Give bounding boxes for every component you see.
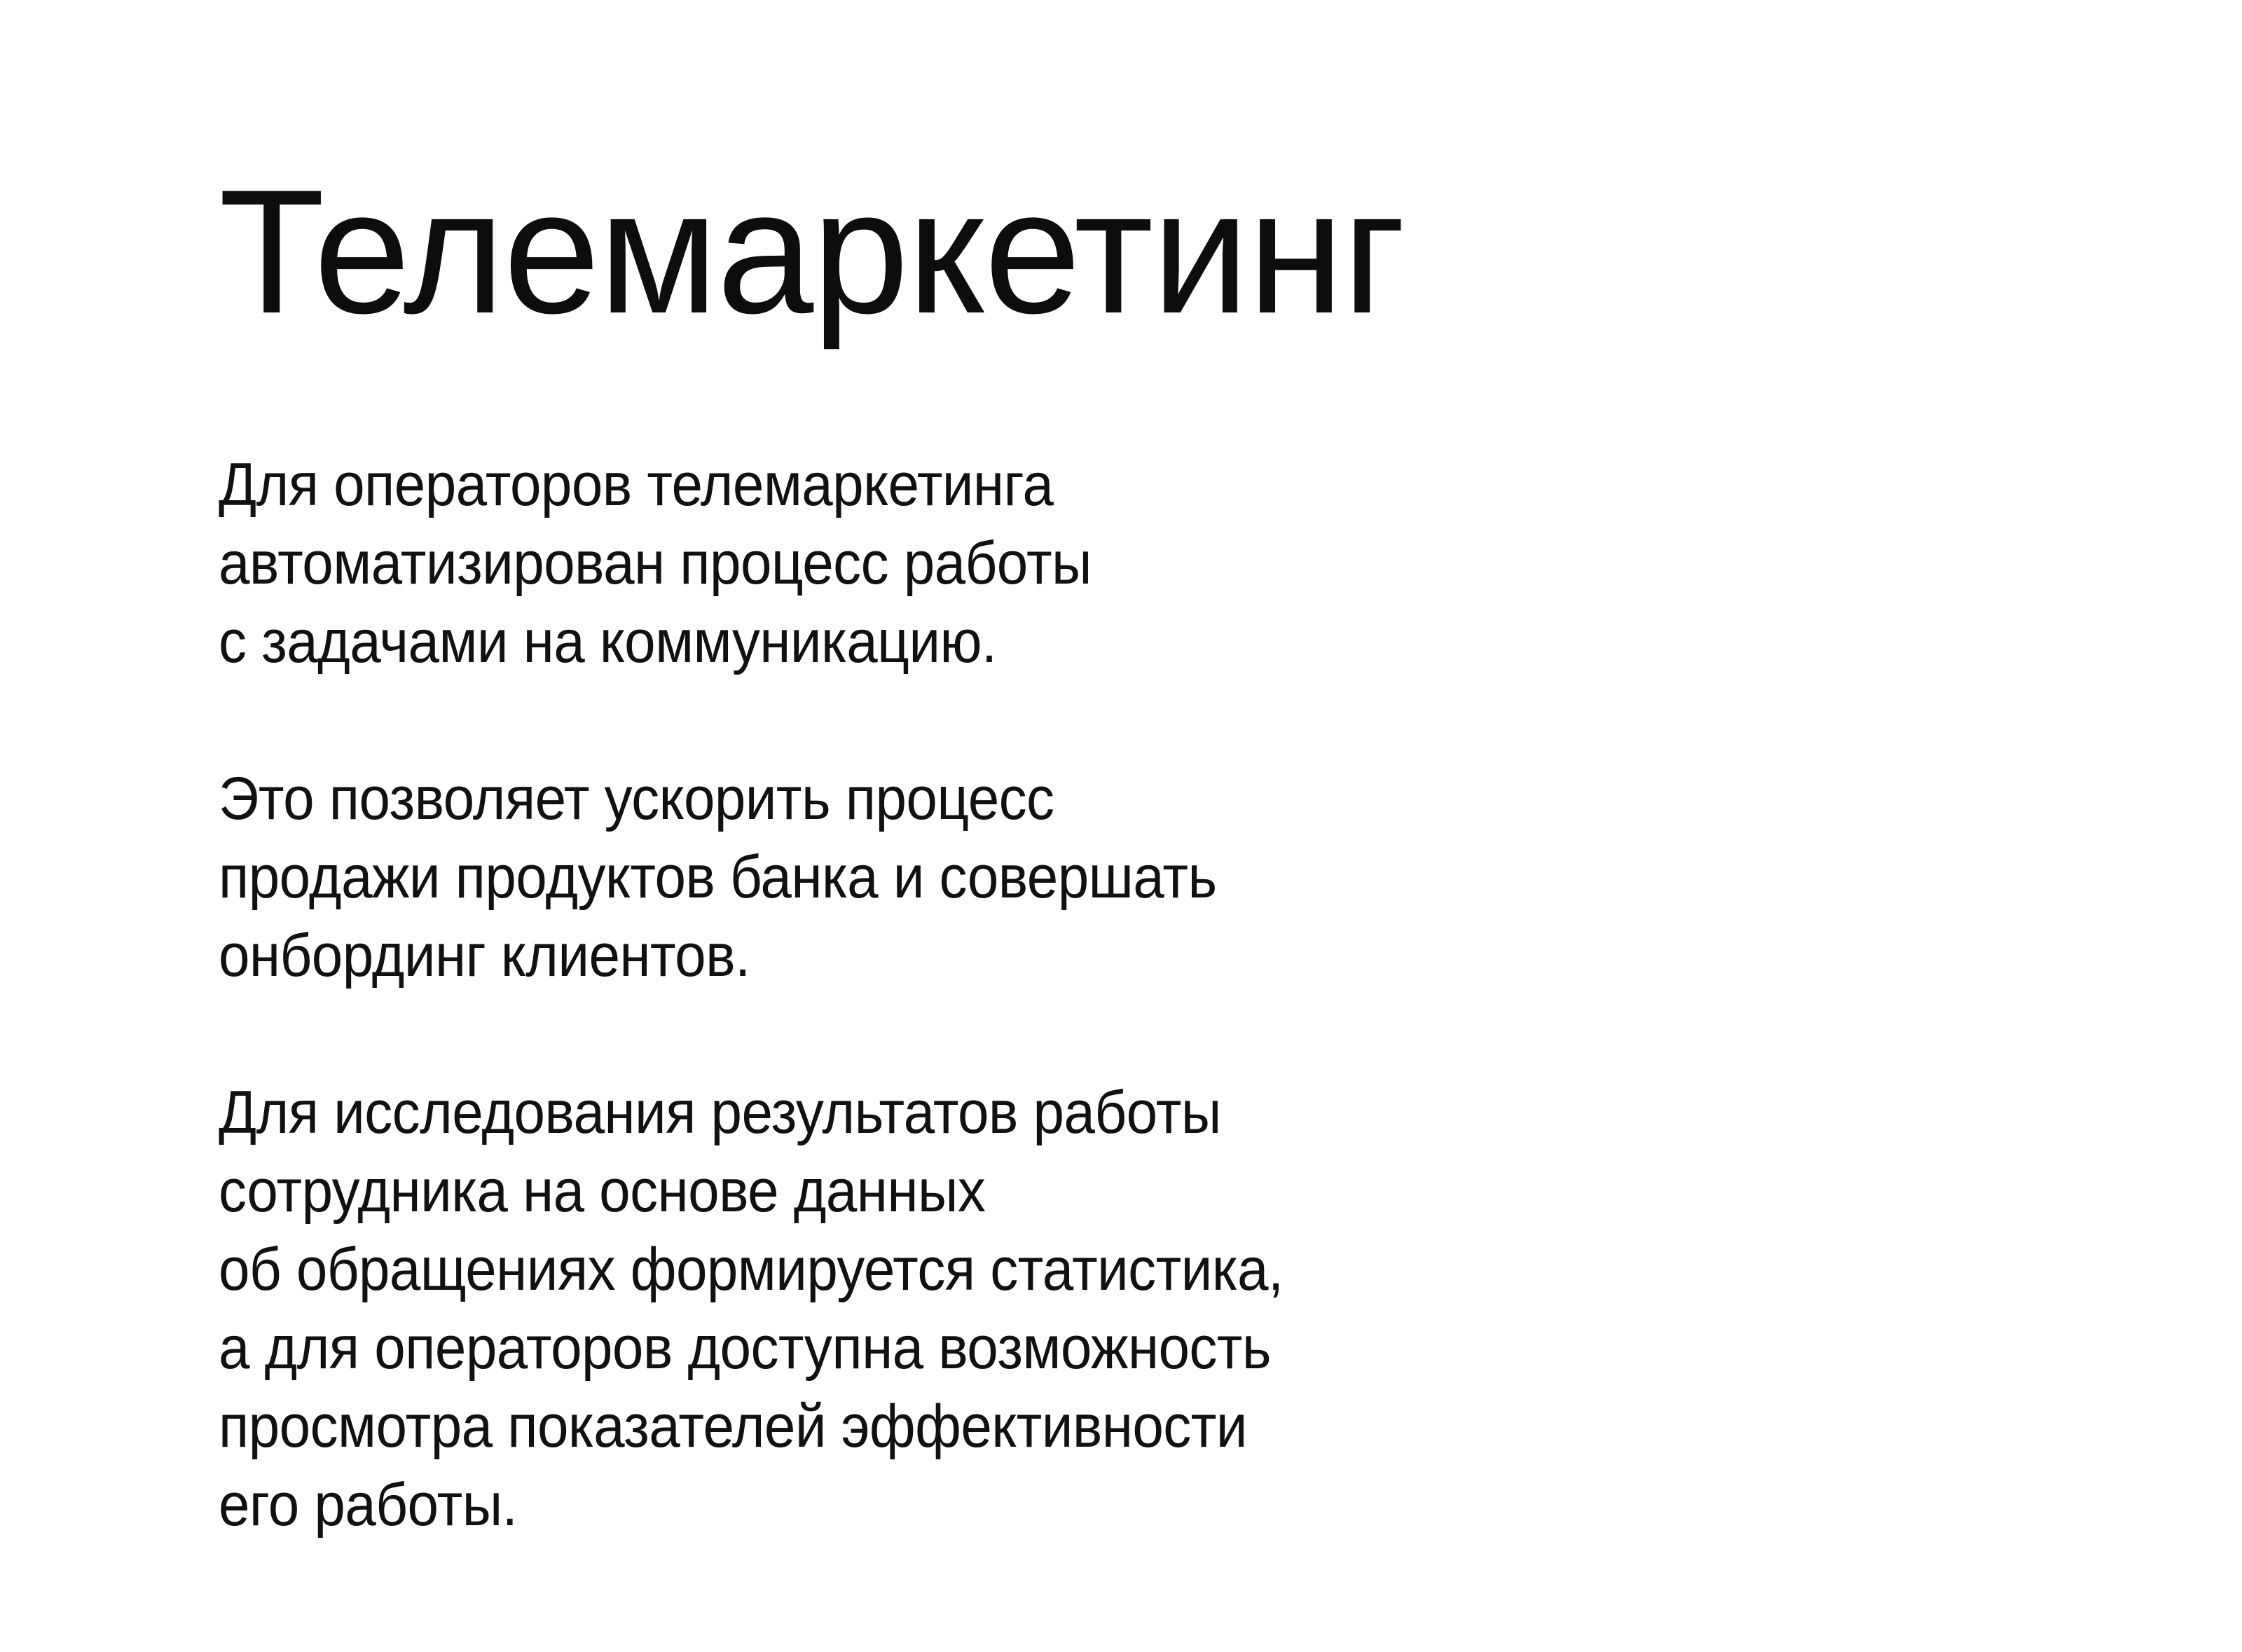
copy-line: сотрудника на основе данных [219,1152,1587,1230]
copy-line: Для исследования результатов работы [219,1073,1587,1152]
paragraph-operators-automation: Для операторов телемаркетинга автоматизи… [219,446,1690,681]
copy-line: с задачами на коммуникацию. [219,603,1587,681]
slide-body-copy: Для операторов телемаркетинга автоматизи… [219,446,1690,1544]
page-title: Телемаркетинг [219,127,1405,378]
copy-line: а для операторов доступна возможность [219,1309,1587,1387]
copy-line: автоматизирован процесс работы [219,524,1587,603]
paragraph-sales-onboarding: Это позволяет ускорить процесс продажи п… [219,759,1690,995]
copy-line: просмотра показателей эффективности [219,1387,1587,1466]
copy-line: об обращениях формируется статистика, [219,1230,1587,1309]
presentation-slide: Телемаркетинг Для операторов телемаркети… [0,0,2242,1652]
copy-line: его работы. [219,1466,1587,1544]
copy-line: Это позволяет ускорить процесс [219,759,1587,838]
copy-line: онбординг клиентов. [219,916,1587,995]
paragraph-statistics-efficiency: Для исследования результатов работы сотр… [219,1073,1690,1544]
copy-line: Для операторов телемаркетинга [219,446,1587,524]
copy-line: продажи продуктов банка и совершать [219,838,1587,916]
